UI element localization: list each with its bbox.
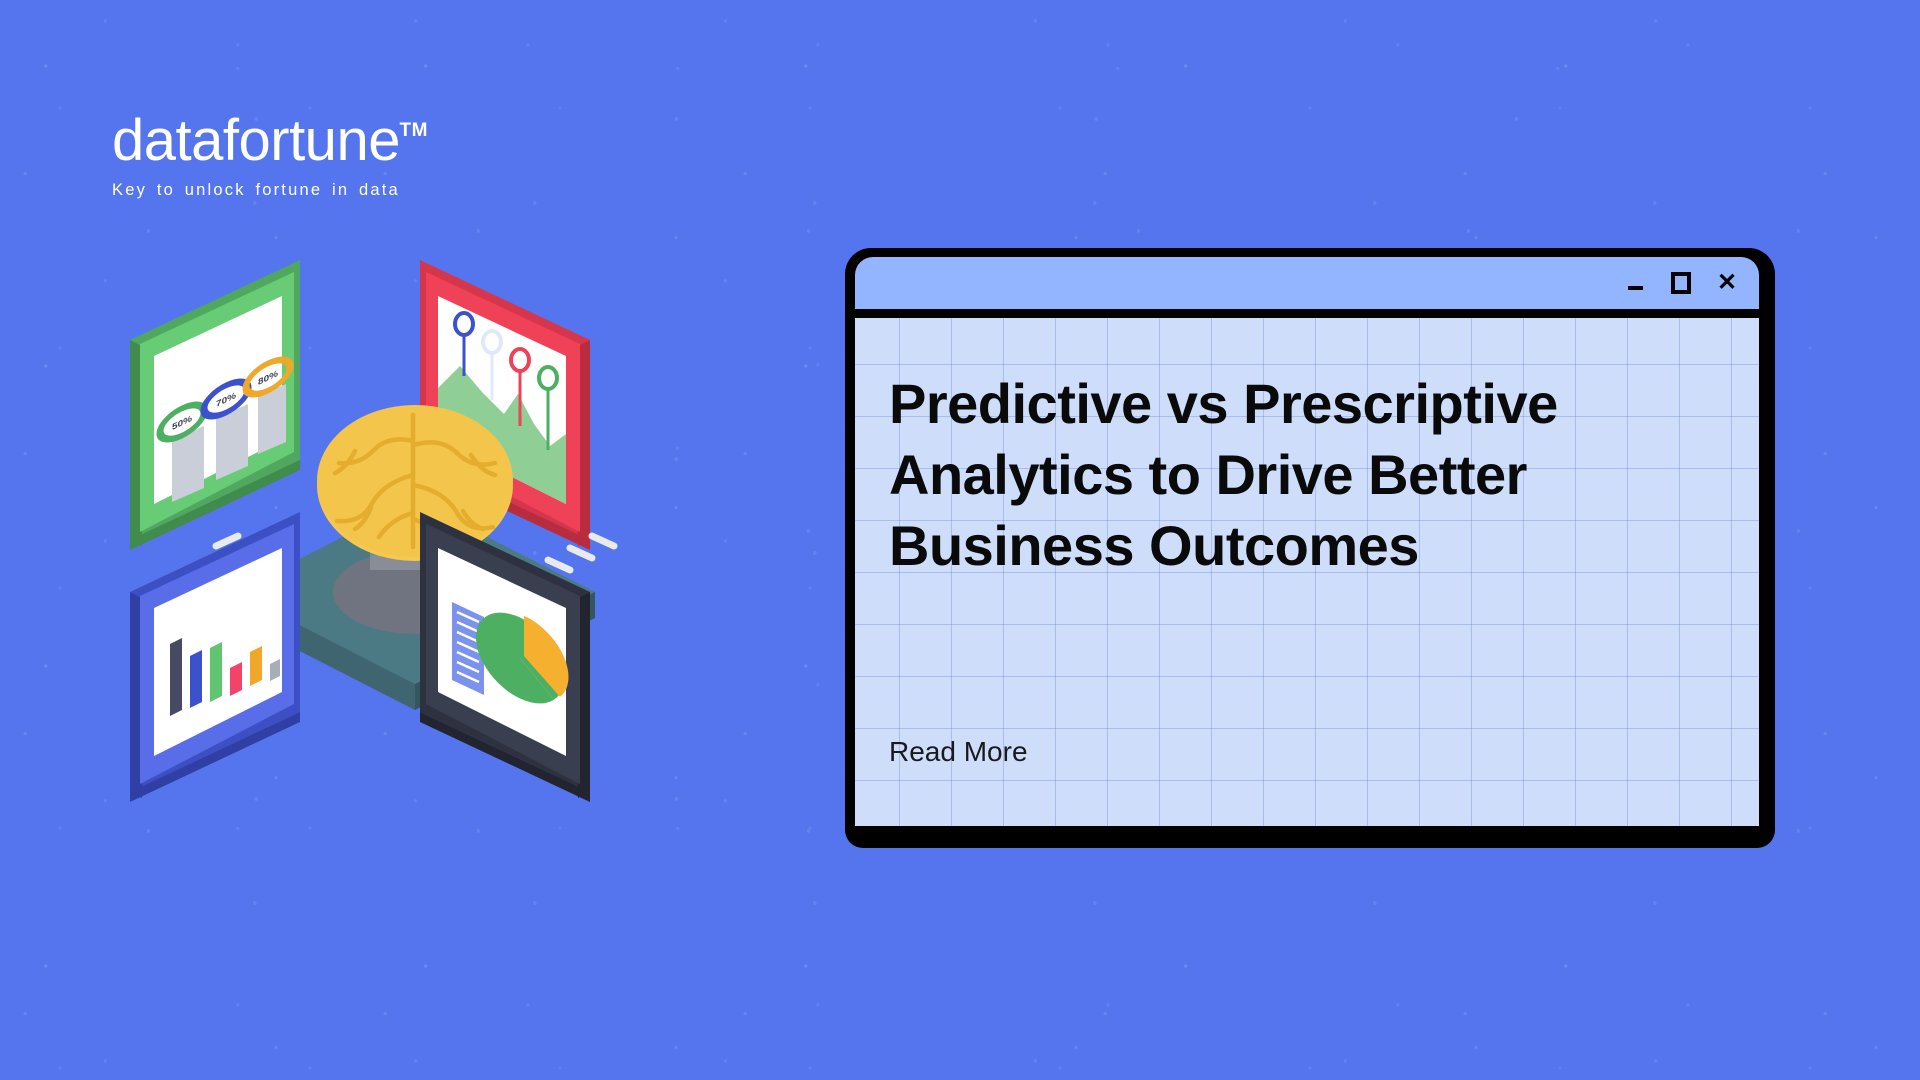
brain-icon: [317, 405, 513, 561]
page-title: Predictive vs Prescriptive Analytics to …: [889, 368, 1725, 581]
trademark-icon: TM: [400, 102, 428, 160]
brand-logo[interactable]: datafortune TM Key to unlock fortune in …: [112, 112, 400, 200]
maximize-icon[interactable]: [1671, 273, 1691, 293]
close-icon[interactable]: ✕: [1717, 273, 1737, 293]
article-card-window[interactable]: ✕ Predictive vs Prescriptive Analytics t…: [845, 248, 1775, 848]
window-body: Predictive vs Prescriptive Analytics to …: [855, 318, 1759, 826]
blue-bar-chart-screen: [130, 512, 300, 802]
window-titlebar: ✕: [855, 257, 1759, 309]
window-content: Predictive vs Prescriptive Analytics to …: [855, 318, 1759, 826]
dark-pie-chart-screen: [420, 512, 590, 802]
green-gauges-screen: 50% 70% 80%: [130, 260, 300, 550]
read-more-link[interactable]: Read More: [889, 736, 1028, 768]
logo-tagline: Key to unlock fortune in data: [112, 181, 400, 200]
isometric-ai-analytics-illustration: 50% 70% 80%: [120, 240, 760, 870]
logo-text: datafortune: [112, 108, 400, 173]
logo-wordmark: datafortune TM: [112, 112, 400, 170]
minimize-icon[interactable]: [1625, 273, 1645, 293]
